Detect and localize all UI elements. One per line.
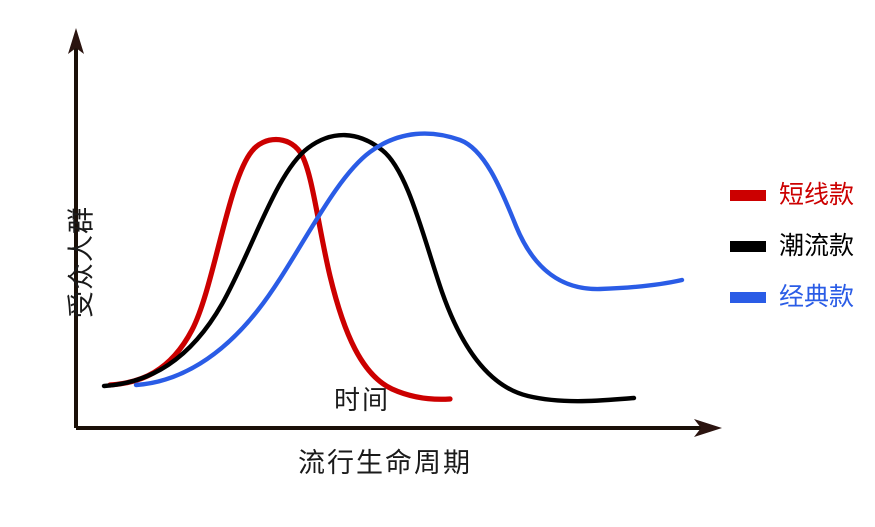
series-curve-duanxiankuan — [110, 140, 450, 400]
time-annotation-label: 时间 — [334, 388, 390, 414]
legend-label-chaoliukuan: 潮流款 — [779, 234, 854, 259]
legend-item-chaoliukuan: 潮流款 — [730, 233, 854, 259]
chart-canvas: 受众人群 时间 流行生命周期 短线款 潮流款 经典款 — [0, 0, 875, 527]
series-curves-group — [104, 134, 682, 402]
legend-item-jingdiankuan: 经典款 — [730, 284, 854, 310]
legend-swatch-jingdiankuan — [730, 292, 766, 303]
y-axis-label: 受众人群 — [69, 206, 96, 318]
series-curve-jingdiankuan — [136, 134, 682, 385]
legend-label-duanxiankuan: 短线款 — [779, 183, 854, 208]
x-axis-label: 流行生命周期 — [298, 450, 472, 477]
axes-group — [68, 28, 722, 437]
legend-swatch-duanxiankuan — [730, 190, 766, 201]
series-curve-chaoliukuan — [104, 135, 634, 401]
legend-swatch-chaoliukuan — [730, 241, 766, 252]
legend-item-duanxiankuan: 短线款 — [730, 182, 854, 208]
legend-label-jingdiankuan: 经典款 — [779, 285, 854, 310]
